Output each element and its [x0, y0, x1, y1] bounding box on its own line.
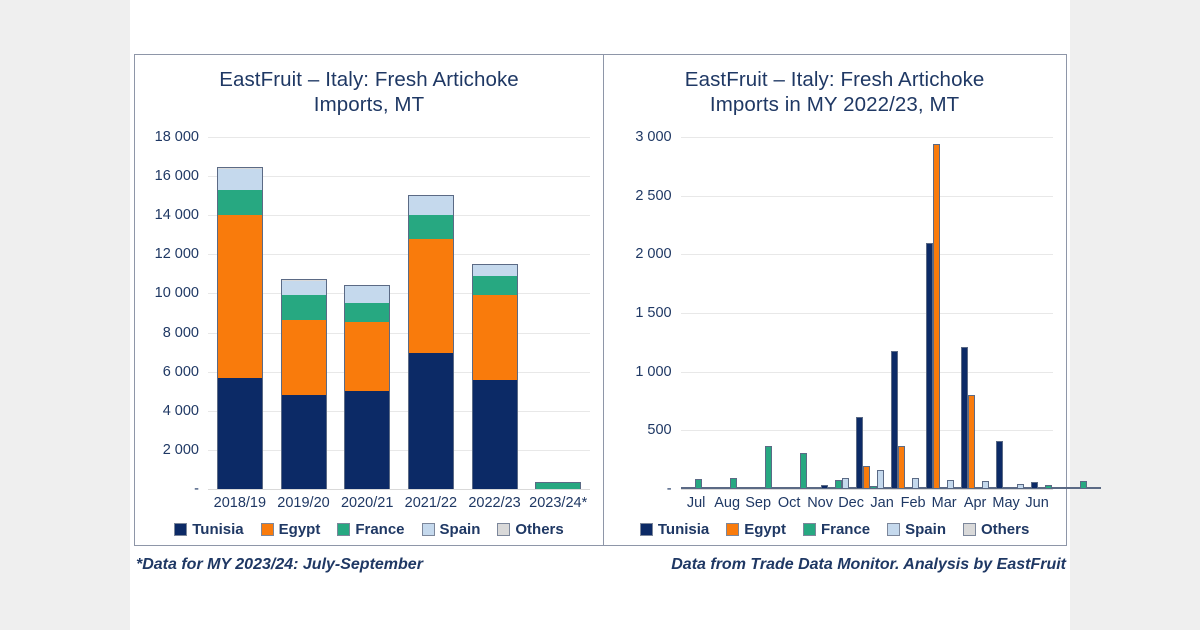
- monthly-bar-tunisia[interactable]: [716, 487, 723, 489]
- monthly-bar-egypt[interactable]: [723, 487, 730, 489]
- annual-stacked-bar[interactable]: [408, 195, 454, 489]
- annual-x-tick-label: 2019/20: [272, 495, 336, 511]
- annual-segment-egypt[interactable]: [344, 322, 390, 391]
- monthly-legend-item-france[interactable]: France: [803, 521, 870, 538]
- monthly-bar-others[interactable]: [954, 487, 961, 489]
- slide-canvas: EastFruit – Italy: Fresh Artichoke Impor…: [130, 0, 1070, 630]
- annual-segment-france[interactable]: [535, 483, 581, 489]
- monthly-y-tick-label: 500: [647, 422, 671, 438]
- monthly-y-tick-label: 1 500: [635, 305, 671, 321]
- right-source-note: Data from Trade Data Monitor. Analysis b…: [671, 556, 1066, 574]
- annual-segment-spain[interactable]: [344, 286, 390, 304]
- monthly-x-tick-label: Jul: [681, 495, 712, 511]
- monthly-category-group: [681, 137, 716, 489]
- annual-gridline: [208, 489, 590, 490]
- annual-segment-spain[interactable]: [281, 281, 327, 296]
- monthly-x-tick-label: Nov: [805, 495, 836, 511]
- monthly-chart-plot-area: -5001 0001 5002 0002 5003 000: [681, 137, 1053, 489]
- annual-legend-label: Others: [515, 521, 563, 538]
- legend-swatch-icon: [261, 523, 274, 536]
- monthly-category-group: [856, 137, 891, 489]
- monthly-category-group: [1031, 137, 1066, 489]
- annual-y-tick-label: -: [194, 481, 199, 497]
- annual-stacked-bar[interactable]: [535, 482, 581, 489]
- annual-segment-egypt[interactable]: [408, 239, 454, 353]
- monthly-bar-spain[interactable]: [877, 470, 884, 489]
- monthly-bar-egypt[interactable]: [933, 144, 940, 489]
- monthly-legend-item-others[interactable]: Others: [963, 521, 1029, 538]
- legend-swatch-icon: [640, 523, 653, 536]
- monthly-bar-spain[interactable]: [947, 480, 954, 489]
- monthly-legend-label: Spain: [905, 521, 946, 538]
- monthly-gridline: [681, 489, 1053, 490]
- monthly-bar-spain[interactable]: [702, 487, 709, 489]
- monthly-bar-spain[interactable]: [737, 487, 744, 489]
- annual-y-tick-label: 4 000: [163, 403, 199, 419]
- annual-chart-title-line2: Imports, MT: [135, 92, 603, 117]
- monthly-legend-item-spain[interactable]: Spain: [887, 521, 946, 538]
- legend-swatch-icon: [422, 523, 435, 536]
- annual-segment-france[interactable]: [281, 295, 327, 319]
- monthly-bar-tunisia[interactable]: [926, 243, 933, 489]
- monthly-y-tick-label: 1 000: [635, 364, 671, 380]
- charts-container: EastFruit – Italy: Fresh Artichoke Impor…: [134, 54, 1068, 546]
- legend-swatch-icon: [337, 523, 350, 536]
- annual-legend-item-spain[interactable]: Spain: [422, 521, 481, 538]
- monthly-bar-tunisia[interactable]: [751, 487, 758, 489]
- monthly-x-tick-label: Apr: [960, 495, 991, 511]
- monthly-bar-france[interactable]: [835, 480, 842, 489]
- monthly-bar-egypt[interactable]: [863, 466, 870, 489]
- monthly-bar-egypt[interactable]: [898, 446, 905, 489]
- monthly-x-tick-label: Jan: [867, 495, 898, 511]
- monthly-bar-egypt[interactable]: [1003, 487, 1010, 489]
- monthly-bar-others[interactable]: [744, 487, 751, 489]
- annual-y-tick-label: 10 000: [155, 285, 199, 301]
- monthly-bar-others[interactable]: [1024, 487, 1031, 489]
- annual-legend-label: Egypt: [279, 521, 321, 538]
- monthly-category-group: [751, 137, 786, 489]
- monthly-bar-others[interactable]: [814, 487, 821, 489]
- monthly-bar-spain[interactable]: [1052, 487, 1059, 489]
- annual-segment-tunisia[interactable]: [281, 395, 327, 489]
- monthly-bar-france[interactable]: [1080, 481, 1087, 489]
- monthly-bar-group: [716, 137, 751, 489]
- monthly-chart-title: EastFruit – Italy: Fresh Artichoke Impor…: [604, 67, 1066, 117]
- monthly-bar-egypt[interactable]: [968, 395, 975, 489]
- monthly-bar-group: [891, 137, 926, 489]
- monthly-y-tick-label: 2 500: [635, 188, 671, 204]
- monthly-legend-label: Egypt: [744, 521, 786, 538]
- monthly-legend-item-tunisia[interactable]: Tunisia: [640, 521, 709, 538]
- monthly-bar-france[interactable]: [765, 446, 772, 489]
- annual-segment-france[interactable]: [408, 215, 454, 238]
- annual-category-group: [208, 137, 272, 489]
- monthly-bar-france[interactable]: [870, 486, 877, 489]
- monthly-x-tick-label: Feb: [898, 495, 929, 511]
- annual-segment-spain[interactable]: [217, 169, 263, 190]
- annual-x-tick-label: 2022/23: [463, 495, 527, 511]
- left-footnote: *Data for MY 2023/24: July-September: [136, 556, 423, 574]
- monthly-bar-egypt[interactable]: [1038, 487, 1045, 489]
- monthly-bar-others[interactable]: [884, 487, 891, 489]
- annual-stacked-bar[interactable]: [344, 285, 390, 489]
- annual-segment-tunisia[interactable]: [217, 378, 263, 489]
- monthly-chart-title-line1: EastFruit – Italy: Fresh Artichoke: [604, 67, 1066, 92]
- annual-segment-egypt[interactable]: [217, 215, 263, 377]
- annual-segment-tunisia[interactable]: [408, 353, 454, 489]
- monthly-bar-france[interactable]: [1045, 485, 1052, 489]
- monthly-bar-others[interactable]: [919, 487, 926, 489]
- annual-chart-title-line1: EastFruit – Italy: Fresh Artichoke: [135, 67, 603, 92]
- annual-segment-spain[interactable]: [408, 196, 454, 216]
- annual-y-tick-label: 12 000: [155, 246, 199, 262]
- monthly-bar-group: [996, 137, 1031, 489]
- annual-segment-egypt[interactable]: [472, 295, 518, 379]
- annual-y-tick-label: 6 000: [163, 364, 199, 380]
- monthly-bar-others[interactable]: [849, 487, 856, 489]
- monthly-legend-label: Tunisia: [658, 521, 709, 538]
- monthly-x-tick-label: Jun: [1022, 495, 1053, 511]
- monthly-bar-egypt[interactable]: [1073, 487, 1080, 489]
- annual-segment-tunisia[interactable]: [472, 380, 518, 490]
- monthly-bar-tunisia[interactable]: [1031, 482, 1038, 489]
- annual-x-tick-label: 2020/21: [335, 495, 399, 511]
- legend-swatch-icon: [174, 523, 187, 536]
- legend-swatch-icon: [887, 523, 900, 536]
- annual-chart-plot-area: -2 0004 0006 0008 00010 00012 00014 0001…: [208, 137, 590, 489]
- annual-segment-france[interactable]: [344, 303, 390, 322]
- monthly-bar-france[interactable]: [800, 453, 807, 489]
- monthly-bar-spain[interactable]: [1087, 487, 1094, 489]
- annual-y-tick-label: 18 000: [155, 129, 199, 145]
- annual-imports-chart-panel: EastFruit – Italy: Fresh Artichoke Impor…: [134, 54, 604, 546]
- monthly-bar-spain[interactable]: [1017, 484, 1024, 489]
- monthly-bar-egypt[interactable]: [793, 487, 800, 489]
- monthly-bar-others[interactable]: [1059, 487, 1066, 489]
- monthly-bar-egypt[interactable]: [688, 487, 695, 489]
- annual-x-tick-label: 2018/19: [208, 495, 272, 511]
- annual-segment-spain[interactable]: [472, 265, 518, 276]
- annual-segment-france[interactable]: [472, 276, 518, 296]
- legend-swatch-icon: [803, 523, 816, 536]
- monthly-legend-label: France: [821, 521, 870, 538]
- annual-y-tick-label: 8 000: [163, 325, 199, 341]
- monthly-bar-france[interactable]: [975, 487, 982, 489]
- monthly-bar-spain[interactable]: [842, 478, 849, 489]
- monthly-bar-spain[interactable]: [807, 487, 814, 489]
- annual-chart-x-axis-labels: 2018/192019/202020/212021/222022/232023/…: [208, 495, 590, 511]
- monthly-x-tick-label: Dec: [836, 495, 867, 511]
- annual-y-tick-label: 14 000: [155, 207, 199, 223]
- annual-stacked-bar[interactable]: [281, 279, 327, 489]
- monthly-category-group: [961, 137, 996, 489]
- monthly-x-tick-label: May: [991, 495, 1022, 511]
- annual-category-group: [463, 137, 527, 489]
- annual-legend-item-others[interactable]: Others: [497, 521, 563, 538]
- annual-legend-item-tunisia[interactable]: Tunisia: [174, 521, 243, 538]
- annual-legend-label: France: [355, 521, 404, 538]
- annual-category-group: [272, 137, 336, 489]
- monthly-category-group: [891, 137, 926, 489]
- annual-x-tick-label: 2023/24*: [526, 495, 590, 511]
- monthly-x-tick-label: Oct: [774, 495, 805, 511]
- monthly-category-group: [926, 137, 961, 489]
- annual-legend-item-egypt[interactable]: Egypt: [261, 521, 321, 538]
- monthly-x-tick-label: Mar: [929, 495, 960, 511]
- monthly-bar-spain[interactable]: [982, 481, 989, 489]
- monthly-y-tick-label: 3 000: [635, 129, 671, 145]
- monthly-bar-others[interactable]: [989, 487, 996, 489]
- monthly-bar-group: [926, 137, 961, 489]
- annual-category-group: [399, 137, 463, 489]
- annual-category-group: [526, 137, 590, 489]
- monthly-category-group: [716, 137, 751, 489]
- annual-chart-title: EastFruit – Italy: Fresh Artichoke Impor…: [135, 67, 603, 117]
- monthly-bar-egypt[interactable]: [758, 487, 765, 489]
- monthly-category-group: [1066, 137, 1101, 489]
- monthly-bar-others[interactable]: [709, 487, 716, 489]
- annual-stacked-bar[interactable]: [217, 167, 263, 489]
- annual-segment-france[interactable]: [217, 190, 263, 215]
- monthly-bar-tunisia[interactable]: [681, 487, 688, 489]
- monthly-bar-group: [961, 137, 996, 489]
- monthly-bar-france[interactable]: [730, 478, 737, 489]
- monthly-category-group: [786, 137, 821, 489]
- monthly-legend-label: Others: [981, 521, 1029, 538]
- monthly-bar-group: [786, 137, 821, 489]
- monthly-bar-tunisia[interactable]: [821, 485, 828, 489]
- monthly-bar-france[interactable]: [905, 487, 912, 489]
- monthly-bar-tunisia[interactable]: [961, 347, 968, 489]
- annual-category-group: [335, 137, 399, 489]
- monthly-x-tick-label: Aug: [712, 495, 743, 511]
- monthly-bar-egypt[interactable]: [828, 487, 835, 489]
- monthly-chart-title-line2: Imports in MY 2022/23, MT: [604, 92, 1066, 117]
- monthly-bar-group: [751, 137, 786, 489]
- monthly-y-tick-label: -: [667, 481, 672, 497]
- monthly-bar-group: [1031, 137, 1066, 489]
- monthly-bar-france[interactable]: [695, 479, 702, 489]
- annual-y-tick-label: 2 000: [163, 442, 199, 458]
- monthly-category-group: [821, 137, 856, 489]
- monthly-bars: [681, 137, 1053, 489]
- monthly-bar-group: [856, 137, 891, 489]
- monthly-bar-tunisia[interactable]: [891, 351, 898, 489]
- annual-y-tick-label: 16 000: [155, 168, 199, 184]
- annual-stacked-bar[interactable]: [472, 264, 518, 489]
- monthly-bar-tunisia[interactable]: [996, 441, 1003, 489]
- monthly-chart-legend: TunisiaEgyptFranceSpainOthers: [604, 521, 1066, 538]
- monthly-bar-tunisia[interactable]: [1066, 487, 1073, 489]
- monthly-category-group: [996, 137, 1031, 489]
- annual-legend-label: Spain: [440, 521, 481, 538]
- annual-legend-label: Tunisia: [192, 521, 243, 538]
- annual-bars: [208, 137, 590, 489]
- monthly-bar-others[interactable]: [1094, 487, 1101, 489]
- monthly-bar-france[interactable]: [940, 487, 947, 489]
- monthly-bar-france[interactable]: [1010, 487, 1017, 489]
- monthly-bar-tunisia[interactable]: [786, 487, 793, 489]
- annual-segment-egypt[interactable]: [281, 320, 327, 395]
- monthly-x-tick-label: Sep: [743, 495, 774, 511]
- monthly-y-tick-label: 2 000: [635, 246, 671, 262]
- monthly-imports-chart-panel: EastFruit – Italy: Fresh Artichoke Impor…: [603, 54, 1067, 546]
- monthly-bar-spain[interactable]: [912, 478, 919, 489]
- annual-segment-tunisia[interactable]: [344, 391, 390, 489]
- monthly-chart-x-axis-labels: JulAugSepOctNovDecJanFebMarAprMayJun: [681, 495, 1053, 511]
- legend-swatch-icon: [963, 523, 976, 536]
- annual-x-tick-label: 2021/22: [399, 495, 463, 511]
- monthly-bar-group: [1066, 137, 1101, 489]
- monthly-legend-item-egypt[interactable]: Egypt: [726, 521, 786, 538]
- monthly-bar-group: [681, 137, 716, 489]
- monthly-bar-spain[interactable]: [772, 487, 779, 489]
- annual-chart-legend: TunisiaEgyptFranceSpainOthers: [135, 521, 603, 538]
- monthly-bar-others[interactable]: [779, 487, 786, 489]
- monthly-bar-group: [821, 137, 856, 489]
- legend-swatch-icon: [497, 523, 510, 536]
- monthly-bar-tunisia[interactable]: [856, 417, 863, 489]
- annual-legend-item-france[interactable]: France: [337, 521, 404, 538]
- legend-swatch-icon: [726, 523, 739, 536]
